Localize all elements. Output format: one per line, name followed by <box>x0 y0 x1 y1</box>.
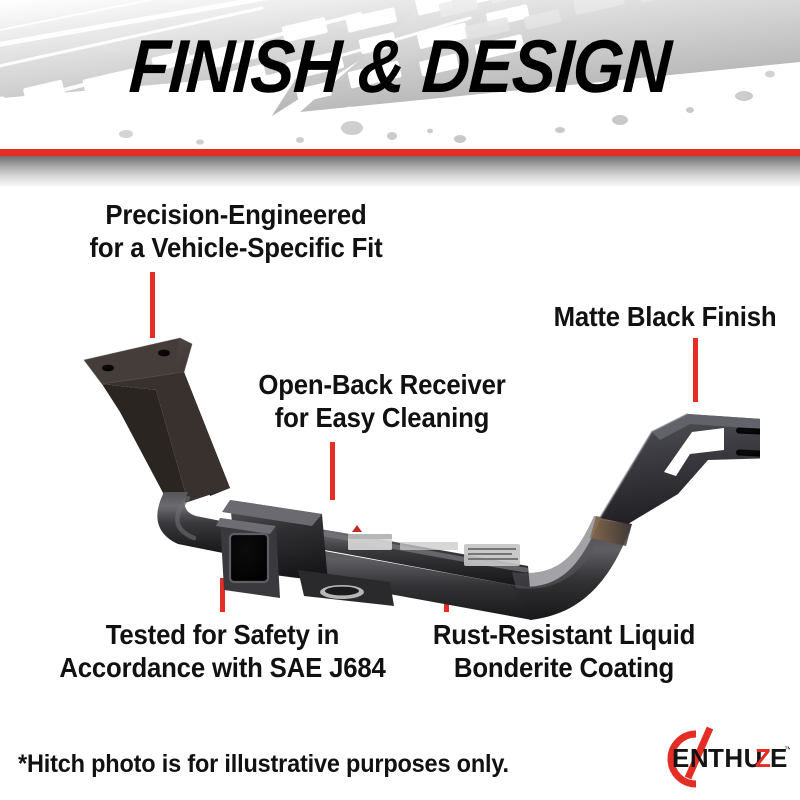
product-photo-trailer-hitch <box>60 320 760 620</box>
callout-line: Tested for Safety in <box>55 618 391 651</box>
receiver-square-opening <box>230 534 268 582</box>
logo-text-z: Z <box>755 743 771 773</box>
callout-line: Accordance with SAE J684 <box>55 651 391 684</box>
callout-rust-resistant-coating: Rust-Resistant Liquid Bonderite Coating <box>417 618 711 684</box>
page-title: FINISH & DESIGN <box>46 26 755 106</box>
callout-line: Precision-Engineered <box>61 198 411 231</box>
logo-trademark-symbol: ™ <box>784 745 790 754</box>
callout-precision-engineered: Precision-Engineered for a Vehicle-Speci… <box>61 198 411 264</box>
header-band: FINISH & DESIGN <box>0 0 800 150</box>
callout-line: Bonderite Coating <box>417 651 711 684</box>
callout-line: Rust-Resistant Liquid <box>417 618 711 651</box>
enthuze-brand-logo: EN THU Z E ™ <box>640 726 790 792</box>
header-accent-bar <box>0 149 800 156</box>
right-mounting-bracket <box>600 414 760 524</box>
callout-tested-for-safety: Tested for Safety in Accordance with SAE… <box>55 618 391 684</box>
left-mounting-bracket <box>84 338 230 506</box>
header-drop-shadow <box>0 156 800 188</box>
callout-line: for a Vehicle-Specific Fit <box>61 231 411 264</box>
footer-disclaimer: *Hitch photo is for illustrative purpose… <box>18 750 509 778</box>
logo-text-en: EN <box>672 743 709 773</box>
